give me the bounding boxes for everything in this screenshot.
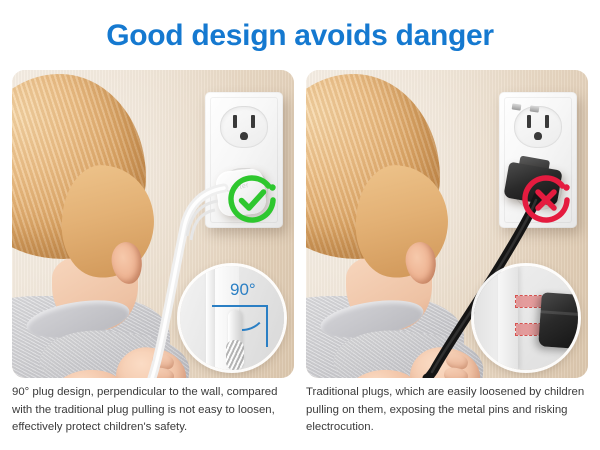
x-badge [518,172,574,228]
page-title: Good design avoids danger [0,18,600,54]
inset-outlet-plate [498,266,518,370]
check-badge [224,172,280,228]
angle-horizontal-line [212,305,268,307]
comparison-panels: Lierter 90° [12,70,588,378]
caption-row: 90° plug design, perpendicular to the wa… [12,384,588,437]
angle-label: 90° [230,280,256,300]
angle-detail-inset: 90° [180,266,284,370]
inset-black-plug [538,292,578,349]
caption-correct-usage: 90° plug design, perpendicular to the wa… [12,384,294,437]
inset-wall-edge [206,266,215,370]
caption-incorrect-usage: Traditional plugs, which are easily loos… [306,384,588,437]
angle-vertical-line [266,305,268,347]
inset-wall [474,266,498,370]
inset-cable-grip [226,340,244,370]
x-badge-icon [518,172,574,228]
incorrect-usage-panel [306,70,588,378]
exposed-pins-inset [474,266,578,370]
check-badge-icon [224,172,280,228]
correct-usage-panel: Lierter 90° [12,70,294,378]
